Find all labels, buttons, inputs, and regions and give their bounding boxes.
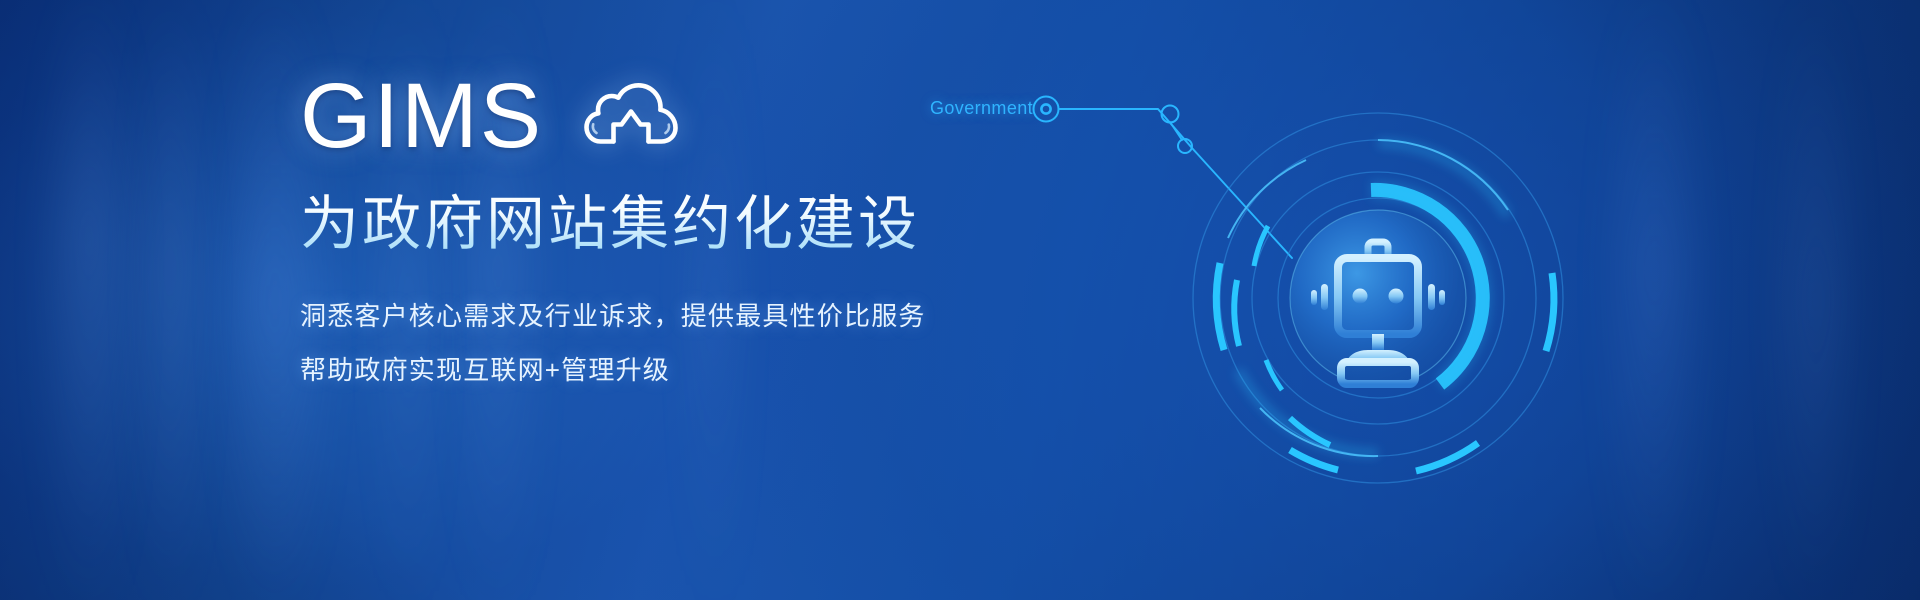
robot-emblem — [1178, 98, 1578, 498]
light-streak — [150, 0, 190, 600]
emblem-tick-arc — [1254, 226, 1282, 390]
light-streak — [58, 0, 120, 600]
light-streak — [1790, 0, 1842, 600]
page-title: 为政府网站集约化建设 — [300, 190, 920, 258]
hero-banner: GIMS 为政府网站集约化建设 洞悉客户核心需求及行业诉求，提供最具性价比服务 … — [0, 0, 1920, 600]
robot-emblem-graphic — [1178, 98, 1578, 498]
brand-title: GIMS — [300, 70, 543, 162]
cloud-upload-icon — [583, 83, 679, 149]
network-node-icon — [1034, 97, 1059, 122]
hero-graphic: Government — [930, 70, 1650, 540]
